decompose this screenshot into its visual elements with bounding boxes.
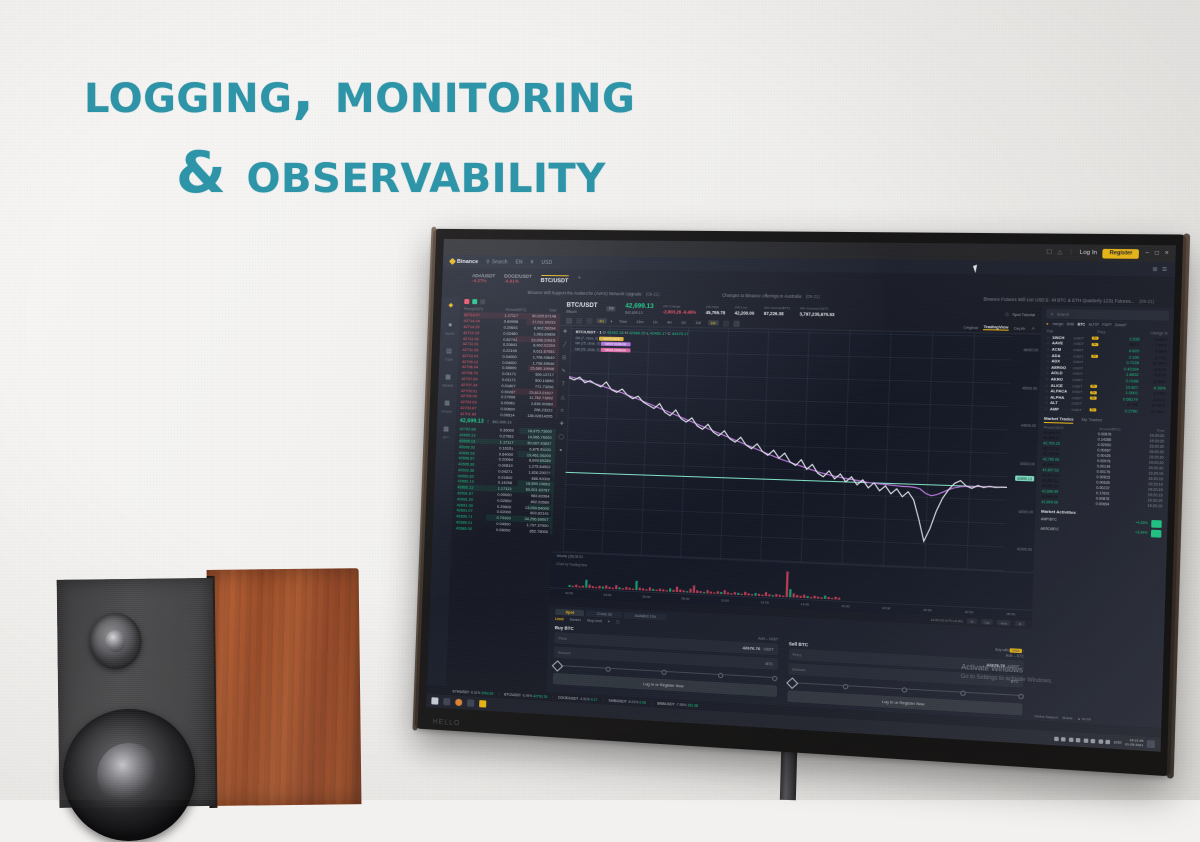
- wl-price: 1.0001: [1110, 391, 1138, 396]
- favorite-star-icon[interactable]: ☆: [1046, 365, 1050, 369]
- mt-price: 42,700.00: [1043, 457, 1060, 462]
- spot-tutorial-link[interactable]: ⓘ Spot Tutorial: [1005, 312, 1035, 318]
- tab-cross-3x[interactable]: Cross 3x: [586, 610, 622, 618]
- sell-price-label: Price: [793, 652, 802, 657]
- mt-time: 19:20:20: [1149, 439, 1164, 444]
- search-icon[interactable]: [443, 698, 450, 705]
- wl-change: -7.69%: [1142, 343, 1167, 348]
- wl-leverage: 5x: [1092, 343, 1099, 346]
- ma-symbol: AMP/BTC: [1041, 517, 1057, 522]
- buy-with-label: Buy with: [995, 648, 1009, 653]
- mt-time: 19:20:19: [1148, 488, 1163, 493]
- mt-price: 42,700.86: [1043, 452, 1060, 457]
- news-text: Binance Futures Will List USDⓈ -M BTC & …: [983, 296, 1134, 304]
- window-close-button[interactable]: ×: [1165, 251, 1169, 257]
- orderbook-both-icon[interactable]: [464, 299, 469, 304]
- bars-icon[interactable]: [586, 318, 592, 324]
- grid-icon[interactable]: ▦: [441, 425, 450, 434]
- bottom-ticker-item[interactable]: BTC/USDT -6.49% 42700.76: [504, 692, 547, 699]
- wl-leverage: 5x: [1091, 355, 1098, 358]
- timeframe-15m[interactable]: 15m: [634, 319, 647, 324]
- news-date: (09-21): [806, 294, 820, 299]
- mt-amount: 0.17601: [1096, 491, 1110, 496]
- favorite-star-icon[interactable]: ☆: [1046, 359, 1050, 363]
- speaker-icon: [1098, 739, 1103, 744]
- wl-symbol: AGLD: [1051, 371, 1070, 376]
- buy-price-label: Price: [558, 636, 567, 641]
- binance-logo-icon[interactable]: Binance: [450, 258, 478, 264]
- cast-icon[interactable]: ☐: [1046, 249, 1052, 255]
- wl-change: -6.23%: [1140, 391, 1165, 396]
- order-type-stop-limit[interactable]: Stop-limit: [587, 618, 602, 624]
- bookshelf-speaker: [57, 564, 360, 808]
- shield-icon: [1069, 737, 1074, 742]
- wl-base: /USDT: [1073, 360, 1089, 365]
- timeframe-4h[interactable]: 4H: [664, 320, 674, 325]
- col-price[interactable]: Price: [1097, 330, 1105, 334]
- wl-change: -4.85%: [1142, 337, 1167, 342]
- news-text: Changes to Binance offerings in Australi…: [722, 293, 801, 299]
- col-price: Price(USDT): [464, 307, 483, 311]
- wl-base: /USDT: [1072, 378, 1088, 383]
- wl-symbol: 1INCH: [1052, 336, 1071, 341]
- title-line-1: Logging, Monitoring: [84, 66, 784, 120]
- xtick: 20:00: [923, 608, 932, 613]
- ob-amount: 0.00514: [487, 411, 514, 417]
- mid-price-alt: $42,699.13: [492, 420, 511, 425]
- wl-leverage: 5x: [1090, 409, 1097, 412]
- rail-label-trade: Trade: [445, 358, 453, 362]
- watchlist-search-input[interactable]: ⚲ Search: [1046, 309, 1169, 321]
- xtick: 22:00: [965, 610, 974, 615]
- favorite-star-icon[interactable]: ☆: [1046, 353, 1050, 357]
- chart-mode-tradingview[interactable]: TradingView: [983, 325, 1008, 331]
- taskbar-language[interactable]: ENG: [1114, 740, 1122, 745]
- wl-change: -10.88%: [1140, 403, 1165, 408]
- leverage-tag: 10x: [606, 306, 616, 311]
- xtick: 10:00: [721, 598, 729, 603]
- ytick-3: 43000.00: [1020, 462, 1035, 467]
- wl-base: /USDT: [1073, 366, 1089, 371]
- bottom-ticker-item[interactable]: SHIB/USDT -8.01% 0.00: [608, 698, 646, 704]
- indicators-icon[interactable]: [722, 320, 729, 326]
- ytick-1: 45000.00: [1022, 386, 1037, 391]
- search-icon: ⚲: [1051, 312, 1054, 316]
- settings-icon[interactable]: [733, 320, 740, 326]
- col-amount: Amount(BTC): [1099, 426, 1121, 431]
- wl-base: /USDT: [1072, 402, 1088, 407]
- mt-time: 19:20:20: [1149, 444, 1164, 449]
- order-book-sells: 42714.071.1711750,025.6714842714.260.699…: [456, 312, 560, 419]
- value-24h-low: 42,200.00: [735, 310, 755, 316]
- mt-price: 42,697.04: [1042, 484, 1059, 489]
- ma-change: +4.33%: [1135, 521, 1148, 526]
- wl-change: -4.57%: [1141, 373, 1166, 378]
- nav-search-input[interactable]: ⚲ Search: [486, 259, 508, 265]
- order-type-help-icon[interactable]: ⓘ: [616, 620, 620, 625]
- favorite-star-icon[interactable]: ☆: [1045, 383, 1049, 387]
- ticker-price-alt: $42,699.13: [625, 310, 654, 315]
- brand-label: Binance: [457, 258, 478, 264]
- tab-my-trades[interactable]: My Trades: [1081, 416, 1102, 424]
- candles-icon[interactable]: [566, 317, 572, 323]
- binance-trading-app: Binance ⚲ Search EN ¥ USD ⊞ ☰ ADA/USDT -: [426, 255, 1175, 752]
- ma-trade-icon: [1151, 520, 1162, 528]
- notifications-icon[interactable]: [1147, 740, 1155, 748]
- favorite-star-icon[interactable]: ☆: [1045, 389, 1049, 393]
- rail-label-markets: Markets: [442, 384, 453, 388]
- xtick: 06:00: [642, 595, 650, 599]
- order-type-more-icon[interactable]: ▾: [608, 620, 610, 625]
- wl-price: 262.1: [1112, 343, 1140, 348]
- favorite-star-icon[interactable]: ☆: [1046, 341, 1050, 345]
- news-item-2[interactable]: Binance Futures Will List USDⓈ -M BTC & …: [983, 296, 1154, 305]
- watchlist-filter[interactable]: BTC: [1078, 322, 1086, 326]
- xtick: 08:00: [681, 596, 689, 601]
- buy-form-title: Buy BTC: [555, 625, 574, 631]
- favorite-star-icon[interactable]: ☆: [1045, 377, 1049, 381]
- chart-mode-depth[interactable]: Depth: [1014, 326, 1025, 330]
- buy-amount-unit: BTC: [766, 661, 774, 666]
- timeframe-1d[interactable]: 1D: [678, 320, 688, 325]
- ma-change: +3.94%: [1135, 530, 1148, 535]
- chart-scale-log-button[interactable]: log: [981, 619, 992, 625]
- pair-tab-label: BTC/USDT: [541, 278, 569, 285]
- mt-time: 19:20:19: [1148, 471, 1163, 476]
- bottom-ticker-item[interactable]: ETH/USDT -6.31% 3052.69: [453, 689, 494, 695]
- timeframe-1w[interactable]: 1W: [693, 320, 704, 325]
- wl-price: 1.6632: [1111, 373, 1139, 378]
- wl-base: /USDT: [1073, 348, 1089, 353]
- wl-change: -0.50%: [1140, 385, 1165, 390]
- crosshair-icon[interactable]: ✚: [563, 329, 567, 335]
- mt-amount: 0.14286: [1098, 438, 1112, 443]
- mt-amount: 0.00976: [1097, 459, 1111, 464]
- timeframe-1h[interactable]: 1H: [650, 319, 660, 324]
- ytick-2: 44000.00: [1021, 424, 1036, 429]
- expand-icon[interactable]: ↗: [1031, 326, 1035, 331]
- pair-tab-btc[interactable]: BTC/USDT: [541, 275, 569, 286]
- buy-price-value: 42676.76: [742, 645, 760, 651]
- nav-link-0[interactable]: EN: [515, 259, 522, 265]
- taskbar-clock[interactable]: 19:21:45 21-09-2021: [1125, 739, 1143, 748]
- ticker-separator: |: [651, 701, 652, 705]
- xtick: 04:00: [604, 593, 612, 597]
- bottom-ticker-item[interactable]: DOGE/USDT -4.91% 0.17: [558, 695, 597, 701]
- mt-time: 19:20:20: [1149, 461, 1164, 466]
- col-amount: Amount(BTC): [505, 308, 526, 312]
- volume-values: 00 21: [575, 554, 583, 558]
- wl-symbol: ADX: [1051, 359, 1070, 364]
- wl-symbol: ALPACA: [1050, 389, 1069, 394]
- ytick-4: 42000.00: [1018, 509, 1033, 514]
- mobile-link[interactable]: Mobile: [1062, 716, 1072, 721]
- wl-price: 2.150: [1112, 355, 1140, 360]
- mt-price: 42,697.12: [1042, 479, 1059, 484]
- favorite-star-icon[interactable]: ☆: [1044, 407, 1048, 411]
- chrome-icon[interactable]: [455, 699, 462, 706]
- mt-price: 42,700.14: [1043, 447, 1060, 452]
- watchlist-filter[interactable]: ALTSᴺ: [1088, 322, 1098, 326]
- chevron-up-icon: [1054, 736, 1059, 741]
- ticker-separator: |: [498, 692, 499, 696]
- mid-arrow-icon: ↑: [487, 419, 490, 425]
- xtick: 02:00: [565, 591, 573, 595]
- wl-base: /USDT: [1073, 354, 1089, 359]
- mt-price: 42,699.99: [1042, 489, 1059, 494]
- mt-time: 19:20:20: [1149, 434, 1164, 439]
- xtick: 18:00: [882, 606, 891, 611]
- chart-mode-original[interactable]: Original: [963, 325, 978, 329]
- wl-base: /USDT: [1072, 390, 1088, 395]
- line-chart-icon[interactable]: [576, 318, 582, 324]
- ob-price: 42701.89: [460, 411, 486, 417]
- register-button[interactable]: Register: [1103, 248, 1140, 258]
- watchlist-filter[interactable]: ★: [1046, 322, 1049, 326]
- ytick-5: 41000.00: [1017, 547, 1032, 552]
- order-type-limit[interactable]: Limit: [555, 617, 564, 623]
- wl-change: -6.84%: [1141, 379, 1166, 384]
- wl-symbol: ACM: [1052, 347, 1071, 352]
- wl-base: /USDT: [1071, 408, 1087, 413]
- wl-price: 13.827: [1111, 385, 1139, 390]
- mt-amount: 0.00876: [1098, 432, 1112, 437]
- news-date: (09-21): [646, 292, 660, 297]
- volume-label: Volume (20): [556, 553, 574, 558]
- wallet-icon[interactable]: ■: [445, 321, 454, 330]
- col-pair[interactable]: Pair: [1047, 329, 1054, 333]
- mt-amount: 0.00134: [1097, 464, 1111, 469]
- wl-leverage: 5x: [1092, 337, 1099, 340]
- chart-series-svg: [563, 326, 1012, 571]
- pair-tab-ada[interactable]: ADA/USDT -4.27%: [472, 273, 496, 286]
- mt-time: 19:20:20: [1149, 455, 1164, 460]
- pen-icon: [1076, 737, 1081, 742]
- nav-menu-icon[interactable]: ☰: [1162, 266, 1167, 273]
- mt-time: 19:20:20: [1148, 466, 1163, 471]
- watchlist-search-placeholder: Search: [1057, 312, 1069, 316]
- fib-icon[interactable]: ☰: [562, 355, 567, 361]
- col-total: Total: [549, 308, 556, 312]
- chart-bars-icon[interactable]: ▩: [443, 373, 452, 382]
- favorite-star-icon[interactable]: ☆: [1044, 401, 1048, 405]
- ma-trade-icon: [1151, 529, 1162, 537]
- pair-tab-doge[interactable]: DOGE/USDT -4.91%: [504, 273, 532, 286]
- wl-symbol: ALICE: [1051, 383, 1070, 388]
- headset-icon: [1083, 738, 1088, 743]
- chart-scale-auto-button[interactable]: auto: [997, 620, 1011, 626]
- text-icon[interactable]: T: [562, 381, 565, 387]
- computer-monitor: HELLO ☐ △ ⋮ Log In Register − □ × Binanc…: [415, 229, 1187, 777]
- center-column: BTC/USDT Bitcoin 10x 42,699.13 $42,699.1…: [546, 298, 1042, 720]
- buy-form: Buy BTC Avbl -- USDT Price 42676.76 USDT: [553, 625, 779, 701]
- price-chart[interactable]: BTC/USDT · 1 O 42462.18 H 42488.25 L 424…: [563, 326, 1012, 571]
- ob-total: 136.02614205: [516, 412, 553, 418]
- news-item-0[interactable]: Binance Will Support the Avalanche (AVAX…: [528, 290, 660, 297]
- ticker-separator: |: [552, 695, 553, 699]
- sell-form: Buy with VISA › Sell BTC Avbl -- BTC Pri…: [787, 637, 1024, 715]
- wl-symbol: AAVE: [1052, 341, 1071, 346]
- wl-symbol: AKRO: [1051, 377, 1070, 382]
- speaker-tweeter-icon: [89, 613, 142, 670]
- chart-settings-icon[interactable]: ⚙: [1015, 621, 1025, 627]
- buy-amount-label: Amount: [558, 650, 571, 655]
- chart-area: ✚ ╱ ☰ ✎ T △ ≡ ✚ ◯ ●: [551, 325, 1041, 571]
- order-book: Price(USDT) Amount(BTC) Total 42714.071.…: [446, 297, 561, 692]
- mt-price: 42,697.12: [1042, 473, 1059, 478]
- value-24h-vol-btc: 87,226.38: [764, 310, 790, 316]
- footer-value: ▲ 42.69: [1077, 716, 1090, 721]
- binance-icon[interactable]: [479, 700, 486, 708]
- search-placeholder: Search: [492, 259, 508, 265]
- orderbook-sell-icon[interactable]: [480, 299, 485, 304]
- speaker-wood-cabinet: [207, 568, 362, 806]
- online-support-link[interactable]: Online Support: [1034, 714, 1057, 720]
- trade-icon[interactable]: ▤: [444, 347, 453, 356]
- tab-spot[interactable]: Spot: [555, 608, 584, 616]
- nav-link-1[interactable]: ¥: [531, 259, 534, 265]
- mt-amount: 0.00176: [1097, 470, 1111, 475]
- market-activities-rows: AMP/BTC+4.33%AKRO/BTC+3.94%: [1035, 514, 1168, 538]
- window-maximize-button[interactable]: □: [1155, 250, 1159, 256]
- bell-icon[interactable]: △: [1057, 250, 1062, 256]
- pattern-icon[interactable]: △: [561, 394, 565, 400]
- futures-icon[interactable]: ▦: [442, 399, 451, 408]
- measure-icon[interactable]: ≡: [561, 407, 564, 413]
- favorite-star-icon[interactable]: ☆: [1045, 371, 1049, 375]
- news-date: (09-21): [1139, 298, 1154, 304]
- col-change[interactable]: Change %: [1150, 331, 1167, 336]
- binance-diamond-icon: [449, 258, 456, 265]
- value-24h-change: -2,903.26 -6.45%: [663, 309, 697, 315]
- mt-amount: 0.00876: [1096, 497, 1110, 502]
- wl-base: /USDT: [1072, 396, 1088, 401]
- diamond-icon[interactable]: ◆: [446, 301, 455, 310]
- wl-symbol: AERGO: [1051, 365, 1070, 370]
- ob-amount: 0.06000: [483, 526, 510, 532]
- wl-leverage: 5x: [1090, 391, 1097, 394]
- xtick: 12:00: [761, 600, 769, 605]
- xtick: 14:00: [801, 602, 809, 607]
- wl-price: 0.7228: [1111, 361, 1139, 366]
- chart-timezone: 19:20:20 (UTC+5:30): [931, 617, 963, 623]
- watchlist-rows: ☆1INCH/USDT5x2.536-4.85%☆AAVE/USDT5x262.…: [1039, 334, 1174, 415]
- mt-price: 42,695.74: [1041, 495, 1058, 500]
- rail-label-nft: NFT: [443, 436, 449, 440]
- sell-amount-unit: BTC: [1011, 679, 1019, 684]
- system-tray[interactable]: [1054, 736, 1111, 744]
- order-type-market[interactable]: Market: [570, 618, 581, 624]
- interval-caret-icon[interactable]: ▾: [610, 319, 612, 323]
- sell-price-unit: USDT: [1008, 664, 1019, 669]
- tab-market-trades[interactable]: Market Trades: [1044, 415, 1074, 423]
- value-24h-high: 45,799.78: [706, 309, 726, 315]
- favorite-star-icon[interactable]: ☆: [1046, 347, 1050, 351]
- login-button[interactable]: Log In: [1080, 250, 1098, 257]
- speaker-woofer-icon: [62, 708, 196, 842]
- slide-title: Logging, Monitoring & Observability: [84, 66, 784, 200]
- volume-legend: Volume (20) 00 21: [556, 553, 583, 558]
- xtick: 16:00: [841, 604, 850, 609]
- wl-price: 6.620: [1112, 349, 1140, 354]
- orderbook-buy-icon[interactable]: [472, 299, 477, 304]
- favorite-star-icon[interactable]: ☆: [1045, 395, 1049, 399]
- mt-price: 42,699.17: [1042, 463, 1059, 468]
- wl-symbol: ADA: [1052, 353, 1071, 358]
- taskbar-date: 21-09-2021: [1125, 743, 1143, 748]
- ob-total: 852.78000: [512, 527, 549, 534]
- favorite-star-icon[interactable]: ☆: [1046, 335, 1050, 339]
- timeframe-1m[interactable]: 1M: [708, 320, 719, 325]
- wl-price: 2.536: [1112, 337, 1140, 342]
- battery-icon: [1106, 739, 1111, 744]
- trendline-icon[interactable]: ╱: [563, 342, 566, 348]
- window-minimize-button[interactable]: −: [1145, 250, 1149, 256]
- wl-price: 0.68174: [1110, 397, 1138, 402]
- eraser-icon[interactable]: ◯: [558, 434, 564, 440]
- watchlist-filter[interactable]: Zonesᴺ: [1115, 323, 1127, 327]
- wl-change: -11.08%: [1141, 361, 1166, 366]
- xtick: 00:00: [1007, 612, 1016, 617]
- lock-icon[interactable]: ●: [559, 447, 562, 453]
- wl-price: 0.42334: [1111, 367, 1139, 372]
- mt-amount: 0.02000: [1097, 443, 1111, 448]
- value-24h-vol-usdt: 3,797,235,670.53: [799, 311, 834, 317]
- pair-tab-change: -4.91%: [504, 279, 532, 285]
- app-body: ◆ ■ Assets ▤ Trade ▩ Markets ▦ Futures ▦…: [427, 297, 1174, 728]
- news-item-1[interactable]: Changes to Binance offerings in Australi…: [722, 293, 820, 300]
- network-icon: [1091, 738, 1096, 743]
- wl-leverage: 5x: [1090, 397, 1097, 400]
- order-book-buys: 42702.880.3500018,675.7300042699.130.275…: [452, 426, 556, 534]
- current-price-badge: 42699.13: [1015, 476, 1035, 482]
- mt-price: 42,699.13: [1043, 431, 1060, 436]
- brush-icon[interactable]: ✎: [561, 368, 565, 374]
- watchlist-filter[interactable]: BNB: [1067, 322, 1075, 326]
- wl-leverage: 5x: [1090, 385, 1097, 388]
- chart-scale-percent-button[interactable]: %: [967, 618, 977, 624]
- mt-price: 42,697.52: [1042, 468, 1059, 473]
- ticker-separator: |: [602, 698, 603, 702]
- bottom-ticker-item[interactable]: BNB/USDT -7.98% 361.68: [657, 701, 698, 708]
- mt-time: 19:20:19: [1148, 477, 1163, 482]
- timeframe-time[interactable]: Time: [616, 319, 629, 324]
- interval-selector[interactable]: 4H: [596, 318, 606, 323]
- nav-grid-icon[interactable]: ⊞: [1152, 266, 1157, 273]
- add-pair-tab-button[interactable]: +: [577, 275, 581, 281]
- watchlist-filter[interactable]: margin: [1052, 322, 1063, 326]
- info-icon: ⓘ: [1005, 312, 1009, 317]
- mt-time: 19:20:19: [1148, 493, 1163, 498]
- search-icon: ⚲: [486, 259, 490, 265]
- browser-menu-icon[interactable]: ⋮: [1068, 250, 1074, 256]
- start-icon[interactable]: [431, 697, 438, 704]
- wl-base: /USDT: [1074, 336, 1090, 341]
- magnet-icon[interactable]: ✚: [559, 421, 563, 427]
- explorer-icon[interactable]: [467, 699, 474, 706]
- spot-tutorial-label: Spot Tutorial: [1012, 313, 1035, 318]
- market-trades-rows: 42,699.130.0087619:20:2042,696.670.14286…: [1036, 430, 1171, 509]
- tab-isolated-10x[interactable]: Isolated 10x: [624, 612, 666, 620]
- nav-link-2[interactable]: USD: [541, 259, 552, 265]
- buy-price-unit: USDT: [763, 647, 773, 652]
- col-price: Price(USDT): [1044, 425, 1064, 430]
- mt-price: 42,700.15: [1043, 441, 1060, 446]
- sell-price-value: 42676.76: [986, 662, 1005, 668]
- watchlist-filter[interactable]: FIATᴺ: [1102, 323, 1111, 327]
- wl-base: /USDT: [1073, 342, 1089, 347]
- sell-form-title: Sell BTC: [789, 641, 809, 647]
